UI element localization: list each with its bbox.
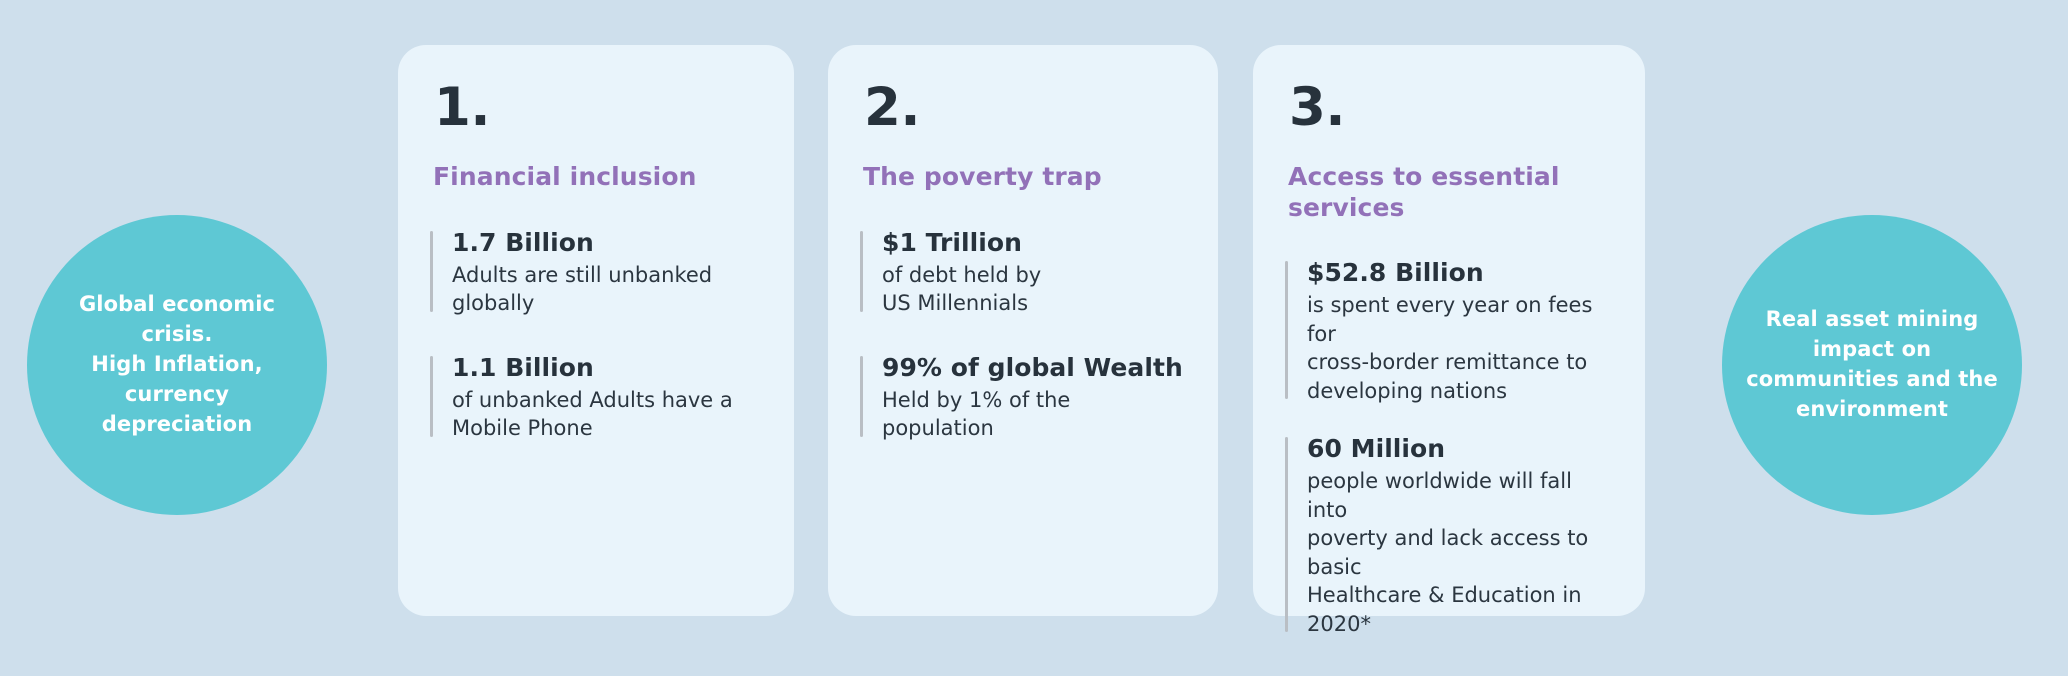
stat-description: Adults are still unbanked globally: [452, 261, 752, 318]
card-3-number: 3.: [1289, 81, 1613, 134]
stat-item: 99% of global Wealth Held by 1% of the p…: [860, 352, 1186, 443]
stat-rule-icon: [860, 231, 863, 312]
card-2-number: 2.: [864, 81, 1186, 134]
card-access-to-essential-services: 3. Access to essential services $52.8 Bi…: [1253, 45, 1645, 616]
card-1-number: 1.: [434, 81, 762, 134]
stat-item: $52.8 Billion is spent every year on fee…: [1285, 257, 1613, 405]
stat-item: 60 Million people worldwide will fall in…: [1285, 433, 1613, 638]
circle-left-label: Global economic crisis. High Inflation, …: [63, 290, 291, 439]
stat-value: 60 Million: [1307, 433, 1613, 465]
stat-rule-icon: [1285, 261, 1288, 399]
stat-description: of debt held by US Millennials: [882, 261, 1182, 318]
infographic-canvas: Global economic crisis. High Inflation, …: [0, 0, 2068, 676]
stat-item: 1.7 Billion Adults are still unbanked gl…: [430, 227, 762, 318]
stat-item: 1.1 Billion of unbanked Adults have a Mo…: [430, 352, 762, 443]
stat-rule-icon: [430, 356, 433, 437]
stat-value: 1.7 Billion: [452, 227, 762, 259]
card-2-title: The poverty trap: [863, 162, 1173, 193]
stat-value: 99% of global Wealth: [882, 352, 1186, 384]
card-financial-inclusion: 1. Financial inclusion 1.7 Billion Adult…: [398, 45, 794, 616]
stat-value: $1 Trillion: [882, 227, 1186, 259]
card-1-title: Financial inclusion: [433, 162, 743, 193]
card-poverty-trap: 2. The poverty trap $1 Trillion of debt …: [828, 45, 1218, 616]
stat-description: people worldwide will fall into poverty …: [1307, 467, 1613, 638]
stat-value: $52.8 Billion: [1307, 257, 1613, 289]
card-1-stats: 1.7 Billion Adults are still unbanked gl…: [430, 227, 762, 443]
stat-rule-icon: [1285, 437, 1288, 632]
card-3-stats: $52.8 Billion is spent every year on fee…: [1285, 257, 1613, 638]
stat-value: 1.1 Billion: [452, 352, 762, 384]
card-3-title: Access to essential services: [1288, 162, 1578, 223]
stat-description: is spent every year on fees for cross-bo…: [1307, 291, 1613, 405]
stat-description: of unbanked Adults have a Mobile Phone: [452, 386, 752, 443]
stat-item: $1 Trillion of debt held by US Millennia…: [860, 227, 1186, 318]
stat-rule-icon: [430, 231, 433, 312]
stat-rule-icon: [860, 356, 863, 437]
circle-right-label: Real asset mining impact on communities …: [1736, 305, 2008, 424]
circle-global-economic-crisis: Global economic crisis. High Inflation, …: [27, 215, 327, 515]
circle-real-asset-mining-impact: Real asset mining impact on communities …: [1722, 215, 2022, 515]
card-2-stats: $1 Trillion of debt held by US Millennia…: [860, 227, 1186, 443]
stat-description: Held by 1% of the population: [882, 386, 1182, 443]
